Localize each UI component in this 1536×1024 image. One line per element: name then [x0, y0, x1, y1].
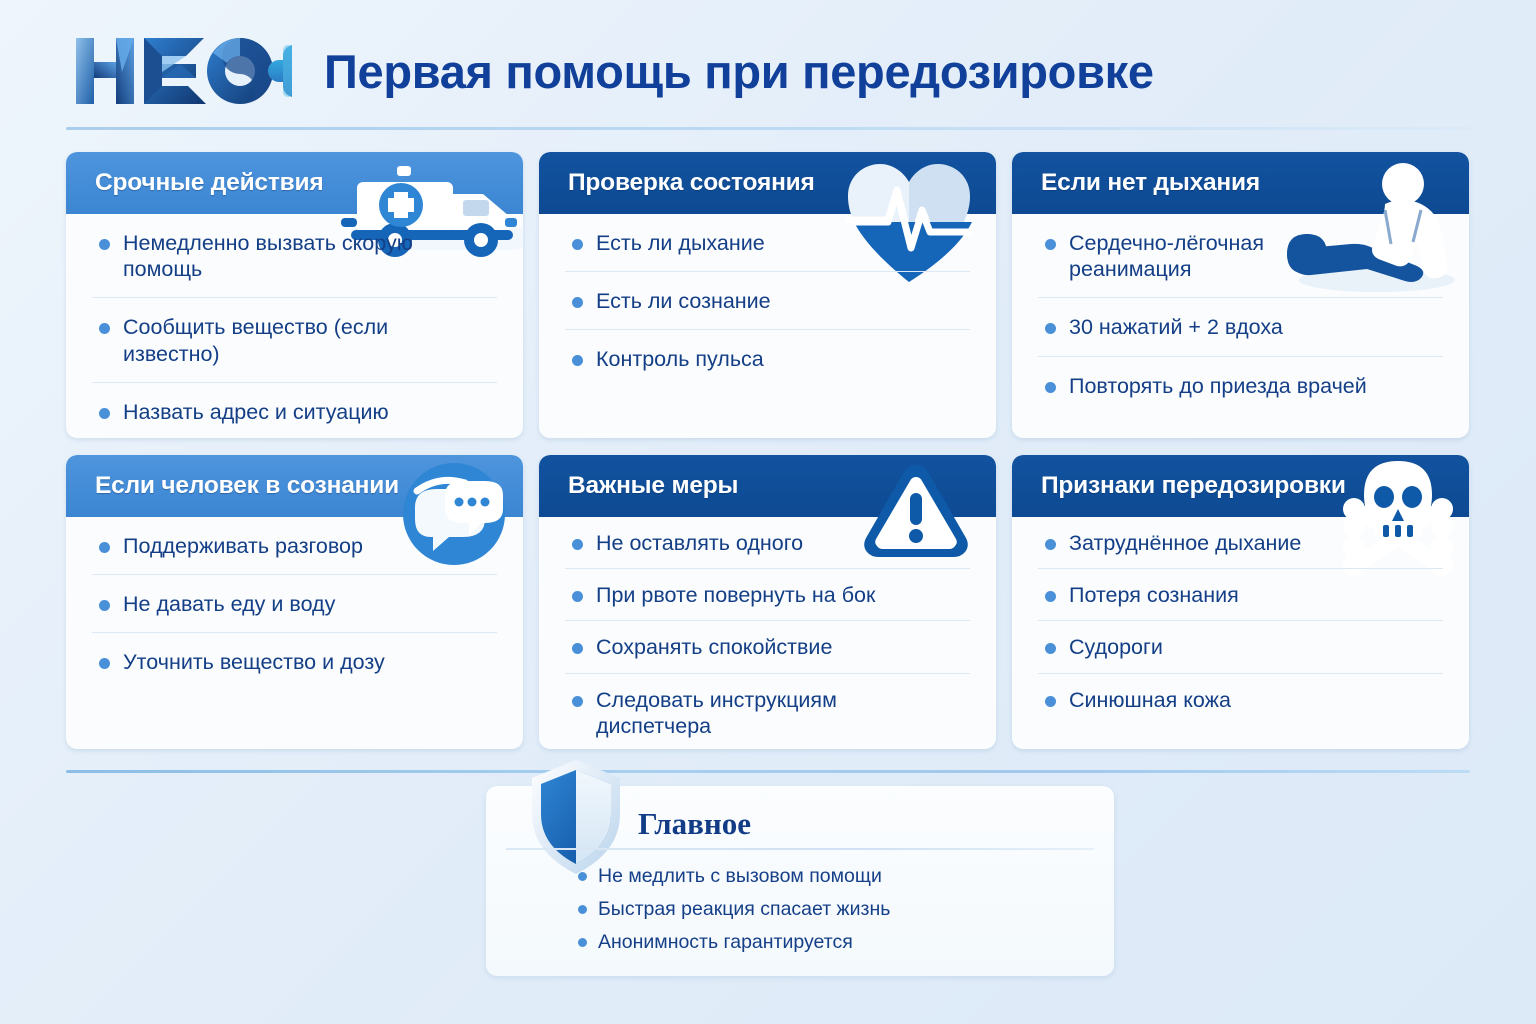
- bullet-dot: [1045, 382, 1056, 393]
- bullet-dot: [1045, 239, 1056, 250]
- bullet-dot: [1045, 323, 1056, 334]
- list-item[interactable]: Уточнить вещество и дозу: [92, 633, 497, 690]
- list-item[interactable]: Сердечно-лёгочная реанимация: [1038, 214, 1443, 298]
- list-item[interactable]: Синюшная кожа: [1038, 674, 1443, 725]
- card-header: Признаки передозировки: [1012, 455, 1469, 517]
- list-item-label: Поддерживать разговор: [123, 533, 363, 559]
- bullet-dot: [578, 905, 587, 914]
- list-item-label: Повторять до приезда врачей: [1069, 373, 1367, 399]
- card-header: Срочные действия: [66, 152, 523, 214]
- summary-title: Главное: [638, 806, 751, 842]
- bullet-list: Не оставлять одного При рвоте повернуть …: [565, 517, 970, 749]
- list-item[interactable]: Потеря сознания: [1038, 569, 1443, 621]
- list-item-label: Контроль пульса: [596, 346, 764, 372]
- summary-panel[interactable]: Главное Не медлить с вызовом помощи Быст…: [486, 786, 1114, 976]
- card-body: Не оставлять одного При рвоте повернуть …: [539, 517, 996, 749]
- bullet-list: Есть ли дыхание Есть ли сознание Контрол…: [565, 214, 970, 388]
- card-header: Если человек в сознании: [66, 455, 523, 517]
- list-item[interactable]: Поддерживать разговор: [92, 517, 497, 575]
- card-overdose-signs[interactable]: Признаки передозировки: [1012, 455, 1469, 749]
- list-item-label: Быстрая реакция спасает жизнь: [598, 898, 890, 921]
- list-item[interactable]: При рвоте повернуть на бок: [565, 569, 970, 621]
- card-body: Немедленно вызвать скорую помощь Сообщит…: [66, 214, 523, 438]
- card-no-breathing[interactable]: Если нет дыхания: [1012, 152, 1469, 438]
- list-item-label: Не медлить с вызовом помощи: [598, 865, 882, 888]
- list-item[interactable]: Быстрая реакция спасает жизнь: [578, 893, 890, 926]
- list-item-label: Есть ли дыхание: [596, 230, 765, 256]
- bottom-divider: [66, 770, 1470, 773]
- bullet-dot: [578, 872, 587, 881]
- list-item-label: 30 нажатий + 2 вдоха: [1069, 314, 1283, 340]
- bullet-dot: [572, 539, 583, 550]
- card-header: Если нет дыхания: [1012, 152, 1469, 214]
- list-item[interactable]: Назвать адрес и ситуацию: [92, 383, 497, 438]
- list-item[interactable]: Есть ли сознание: [565, 272, 970, 330]
- bullet-dot: [99, 239, 110, 250]
- brand-logo: [72, 32, 292, 110]
- card-header: Важные меры: [539, 455, 996, 517]
- bullet-list: Сердечно-лёгочная реанимация 30 нажатий …: [1038, 214, 1443, 414]
- list-item-label: Немедленно вызвать скорую помощь: [123, 230, 453, 282]
- list-item[interactable]: Сообщить вещество (если известно): [92, 298, 497, 382]
- list-item[interactable]: 30 нажатий + 2 вдоха: [1038, 298, 1443, 356]
- list-item-label: Есть ли сознание: [596, 288, 771, 314]
- list-item-label: Не давать еду и воду: [123, 591, 335, 617]
- list-item-label: При рвоте повернуть на бок: [596, 582, 875, 608]
- card-conscious-person[interactable]: Если человек в сознании Подд: [66, 455, 523, 749]
- list-item-label: Не оставлять одного: [596, 530, 803, 556]
- bullet-dot: [572, 643, 583, 654]
- list-item-label: Следовать инструкциям диспетчера: [596, 687, 956, 739]
- bullet-dot: [99, 600, 110, 611]
- bullet-dot: [1045, 539, 1056, 550]
- card-title: Важные меры: [568, 472, 738, 500]
- list-item-label: Потеря сознания: [1069, 582, 1239, 608]
- list-item[interactable]: Следовать инструкциям диспетчера: [565, 674, 970, 749]
- bullet-dot: [572, 355, 583, 366]
- list-item[interactable]: Судороги: [1038, 621, 1443, 673]
- card-row-1: Срочные действия: [66, 152, 1470, 438]
- card-body: Затруднённое дыхание Потеря сознания Суд…: [1012, 517, 1469, 725]
- summary-list: Не медлить с вызовом помощи Быстрая реак…: [578, 860, 890, 959]
- list-item[interactable]: Не давать еду и воду: [92, 575, 497, 633]
- bullet-dot: [1045, 591, 1056, 602]
- list-item-label: Назвать адрес и ситуацию: [123, 399, 389, 425]
- card-title: Проверка состояния: [568, 169, 815, 197]
- card-body: Есть ли дыхание Есть ли сознание Контрол…: [539, 214, 996, 388]
- bullet-list: Немедленно вызвать скорую помощь Сообщит…: [92, 214, 497, 438]
- list-item-label: Затруднённое дыхание: [1069, 530, 1301, 556]
- card-header: Проверка состояния: [539, 152, 996, 214]
- list-item[interactable]: Не оставлять одного: [565, 517, 970, 569]
- card-body: Поддерживать разговор Не давать еду и во…: [66, 517, 523, 691]
- infographic-canvas: Первая помощь при передозировке Срочные …: [0, 0, 1536, 1024]
- list-item-label: Синюшная кожа: [1069, 687, 1231, 713]
- bullet-dot: [99, 323, 110, 334]
- card-condition-check[interactable]: Проверка состояния Есть ли дыхание Есть …: [539, 152, 996, 438]
- list-item[interactable]: Есть ли дыхание: [565, 214, 970, 272]
- card-important-measures[interactable]: Важные меры Не оставлять одного При рвот…: [539, 455, 996, 749]
- card-title: Если нет дыхания: [1041, 169, 1260, 197]
- page-header: Первая помощь при передозировке: [66, 22, 1470, 122]
- list-item-label: Анонимность гарантируется: [598, 931, 853, 954]
- bullet-dot: [572, 696, 583, 707]
- bullet-list: Затруднённое дыхание Потеря сознания Суд…: [1038, 517, 1443, 725]
- bullet-dot: [572, 591, 583, 602]
- list-item[interactable]: Анонимность гарантируется: [578, 926, 890, 959]
- bullet-dot: [1045, 643, 1056, 654]
- bullet-dot: [99, 542, 110, 553]
- list-item[interactable]: Затруднённое дыхание: [1038, 517, 1443, 569]
- bullet-dot: [99, 658, 110, 669]
- bullet-dot: [572, 297, 583, 308]
- bullet-dot: [572, 239, 583, 250]
- bullet-dot: [99, 408, 110, 419]
- bullet-dot: [578, 938, 587, 947]
- bullet-list: Поддерживать разговор Не давать еду и во…: [92, 517, 497, 691]
- list-item-label: Судороги: [1069, 634, 1163, 660]
- shield-icon: [528, 758, 624, 876]
- list-item-label: Сообщить вещество (если известно): [123, 314, 453, 366]
- card-body: Сердечно-лёгочная реанимация 30 нажатий …: [1012, 214, 1469, 414]
- card-title: Срочные действия: [95, 169, 323, 197]
- list-item[interactable]: Контроль пульса: [565, 330, 970, 387]
- page-title: Первая помощь при передозировке: [324, 44, 1154, 99]
- list-item[interactable]: Немедленно вызвать скорую помощь: [92, 214, 497, 298]
- card-row-2: Если человек в сознании Подд: [66, 455, 1470, 749]
- bullet-dot: [1045, 696, 1056, 707]
- list-item[interactable]: Не медлить с вызовом помощи: [578, 860, 890, 893]
- summary-divider: [506, 848, 1094, 850]
- list-item-label: Сердечно-лёгочная реанимация: [1069, 230, 1284, 282]
- logo-icon: [72, 32, 292, 110]
- card-urgent-actions[interactable]: Срочные действия: [66, 152, 523, 438]
- list-item[interactable]: Повторять до приезда врачей: [1038, 357, 1443, 414]
- card-title: Если человек в сознании: [95, 472, 399, 500]
- header-divider: [66, 127, 1470, 130]
- list-item-label: Сохранять спокойствие: [596, 634, 832, 660]
- card-title: Признаки передозировки: [1041, 472, 1346, 500]
- list-item[interactable]: Сохранять спокойствие: [565, 621, 970, 673]
- list-item-label: Уточнить вещество и дозу: [123, 649, 385, 675]
- card-grid: Срочные действия: [66, 152, 1470, 749]
